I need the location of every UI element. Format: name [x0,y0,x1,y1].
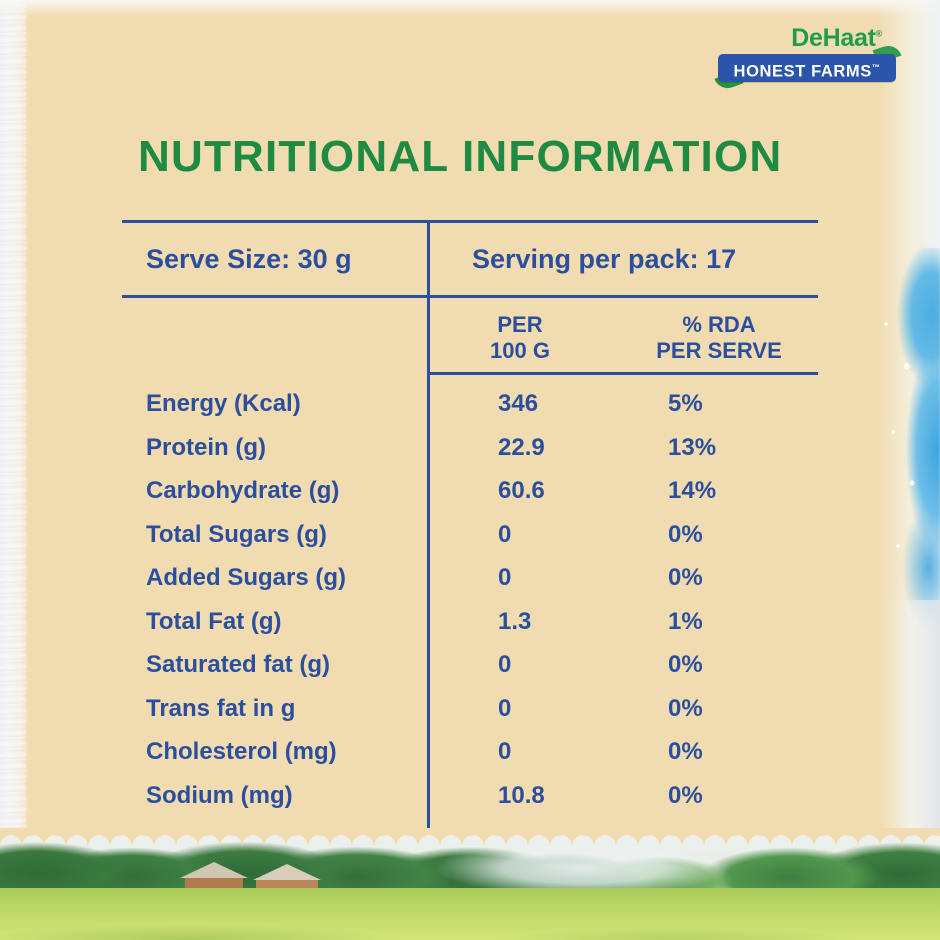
serve-size: Serve Size: 30 g [122,244,427,275]
nutrition-label-page: DeHaat® HONEST FARMS™ NUTRITIONAL INFORM… [0,0,940,940]
landscape-scalloped-edge [0,828,940,846]
nutrient-label: Cholesterol (mg) [146,738,337,766]
nutrient-per-100g-value: 0 [498,564,511,592]
left-watercolor-edge [0,0,30,940]
table-row: Saturated fat (g)00% [122,651,818,695]
table-header-rule [427,372,818,375]
landscape-hut-left-roof [180,862,248,878]
nutrient-label: Added Sugars (g) [146,564,346,592]
table-row: Carbohydrate (g)60.614% [122,477,818,521]
table-row: Added Sugars (g)00% [122,564,818,608]
landscape-field-shading [0,906,940,940]
table-row: Protein (g)22.913% [122,434,818,478]
nutrient-per-100g-value: 0 [498,738,511,766]
nutrient-rda-value: 0% [668,782,703,810]
nutrient-per-100g-value: 346 [498,390,538,418]
column-header-per-100g-line1: PER [430,312,610,338]
nutrient-per-100g-value: 0 [498,521,511,549]
table-row: Total Fat (g)1.31% [122,608,818,652]
landscape-hut-right-roof [253,864,321,880]
nutrient-label: Saturated fat (g) [146,651,330,679]
nutrient-label: Trans fat in g [146,695,295,723]
registered-mark-icon: ® [876,29,882,39]
nutrient-label: Carbohydrate (g) [146,477,339,505]
column-header-rda-line2: PER SERVE [620,338,818,364]
nutrient-rda-value: 0% [668,651,703,679]
landscape-illustration [0,828,940,940]
table-header-row: PER 100 G % RDA PER SERVE [122,298,818,376]
nutrient-rda-value: 13% [668,434,716,462]
column-header-rda-line1: % RDA [620,312,818,338]
nutrient-per-100g-value: 10.8 [498,782,545,810]
table-row: Cholesterol (mg)00% [122,738,818,782]
serving-row: Serve Size: 30 g Serving per pack: 17 [122,223,818,295]
nutrient-rda-value: 1% [668,608,703,636]
nutrient-rda-value: 0% [668,521,703,549]
nutrient-label: Protein (g) [146,434,266,462]
brand-tagline-text: HONEST FARMS [734,63,872,81]
brand-name: DeHaat® [791,26,882,51]
brand-logo: DeHaat® HONEST FARMS™ [718,26,896,92]
nutrient-label: Total Fat (g) [146,608,282,636]
trademark-mark-icon: ™ [872,63,881,72]
nutrient-rda-value: 0% [668,564,703,592]
nutrient-label: Total Sugars (g) [146,521,327,549]
top-watercolor-edge [0,0,940,16]
table-row: Sodium (mg)10.80% [122,782,818,826]
nutrient-per-100g-value: 1.3 [498,608,531,636]
nutrient-per-100g-value: 0 [498,695,511,723]
nutrient-label: Sodium (mg) [146,782,293,810]
nutrient-rows: Energy (Kcal)3465%Protein (g)22.913%Carb… [122,376,818,825]
page-title: NUTRITIONAL INFORMATION [138,134,838,180]
blue-splash-speckles [882,300,922,600]
column-header-per-100g-line2: 100 G [430,338,610,364]
nutrient-per-100g-value: 22.9 [498,434,545,462]
nutrient-per-100g-value: 60.6 [498,477,545,505]
table-row: Trans fat in g00% [122,695,818,739]
brand-name-text: DeHaat [791,24,875,52]
nutrient-per-100g-value: 0 [498,651,511,679]
column-header-rda: % RDA PER SERVE [620,312,818,364]
brand-tagline: HONEST FARMS™ [718,54,896,82]
left-edge-texture [0,0,26,940]
table-row: Energy (Kcal)3465% [122,390,818,434]
right-lower-wash [890,600,940,860]
column-header-per-100g: PER 100 G [430,312,610,364]
nutrition-table: Serve Size: 30 g Serving per pack: 17 PE… [122,220,818,825]
nutrient-rda-value: 5% [668,390,703,418]
nutrient-rda-value: 0% [668,738,703,766]
nutrient-rda-value: 0% [668,695,703,723]
servings-per-pack: Serving per pack: 17 [427,244,818,275]
nutrient-label: Energy (Kcal) [146,390,301,418]
nutrient-rda-value: 14% [668,477,716,505]
table-row: Total Sugars (g)00% [122,521,818,565]
